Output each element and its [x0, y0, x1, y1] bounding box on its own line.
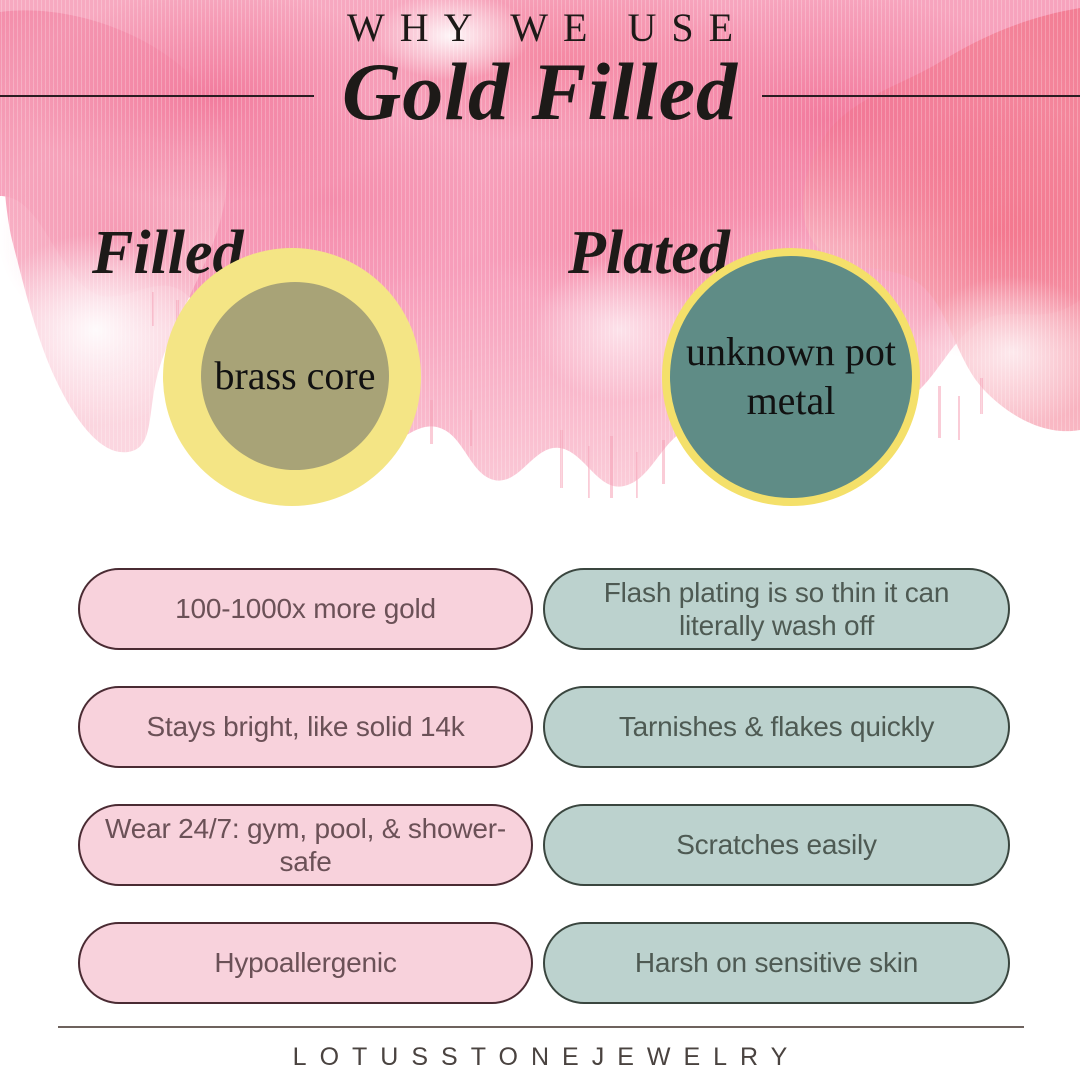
- footer-rule: [58, 1026, 1024, 1028]
- brand-wordmark: LOTUSSTONEJEWELRY: [0, 1042, 1080, 1072]
- comparison-row: Wear 24/7: gym, pool, & shower-safe Scra…: [78, 804, 1010, 886]
- filled-benefit-pill[interactable]: 100-1000x more gold: [78, 568, 533, 650]
- plated-drawback-pill[interactable]: Flash plating is so thin it can literall…: [543, 568, 1010, 650]
- plated-pot-metal-circle: unknown pot metal: [662, 248, 920, 506]
- infographic-canvas: WHY WE USE Gold Filled Filled brass core…: [0, 0, 1080, 1080]
- page-title: Gold Filled: [0, 48, 1080, 137]
- comparison-row: Hypoallergenic Harsh on sensitive skin: [78, 922, 1010, 1004]
- filled-core-label: brass core: [206, 352, 383, 401]
- plated-drawback-pill[interactable]: Tarnishes & flakes quickly: [543, 686, 1010, 768]
- comparison-grid: 100-1000x more gold Flash plating is so …: [78, 568, 1010, 1040]
- filled-benefit-pill[interactable]: Stays bright, like solid 14k: [78, 686, 533, 768]
- header-eyebrow: WHY WE USE: [0, 8, 1080, 48]
- plated-drawback-pill[interactable]: Harsh on sensitive skin: [543, 922, 1010, 1004]
- plated-core-label: unknown pot metal: [670, 328, 912, 426]
- diagram-label-plated: Plated: [568, 222, 730, 284]
- filled-benefit-pill[interactable]: Wear 24/7: gym, pool, & shower-safe: [78, 804, 533, 886]
- filled-benefit-pill[interactable]: Hypoallergenic: [78, 922, 533, 1004]
- plated-drawback-pill[interactable]: Scratches easily: [543, 804, 1010, 886]
- comparison-row: 100-1000x more gold Flash plating is so …: [78, 568, 1010, 650]
- filled-brass-core: brass core: [201, 282, 389, 470]
- comparison-row: Stays bright, like solid 14k Tarnishes &…: [78, 686, 1010, 768]
